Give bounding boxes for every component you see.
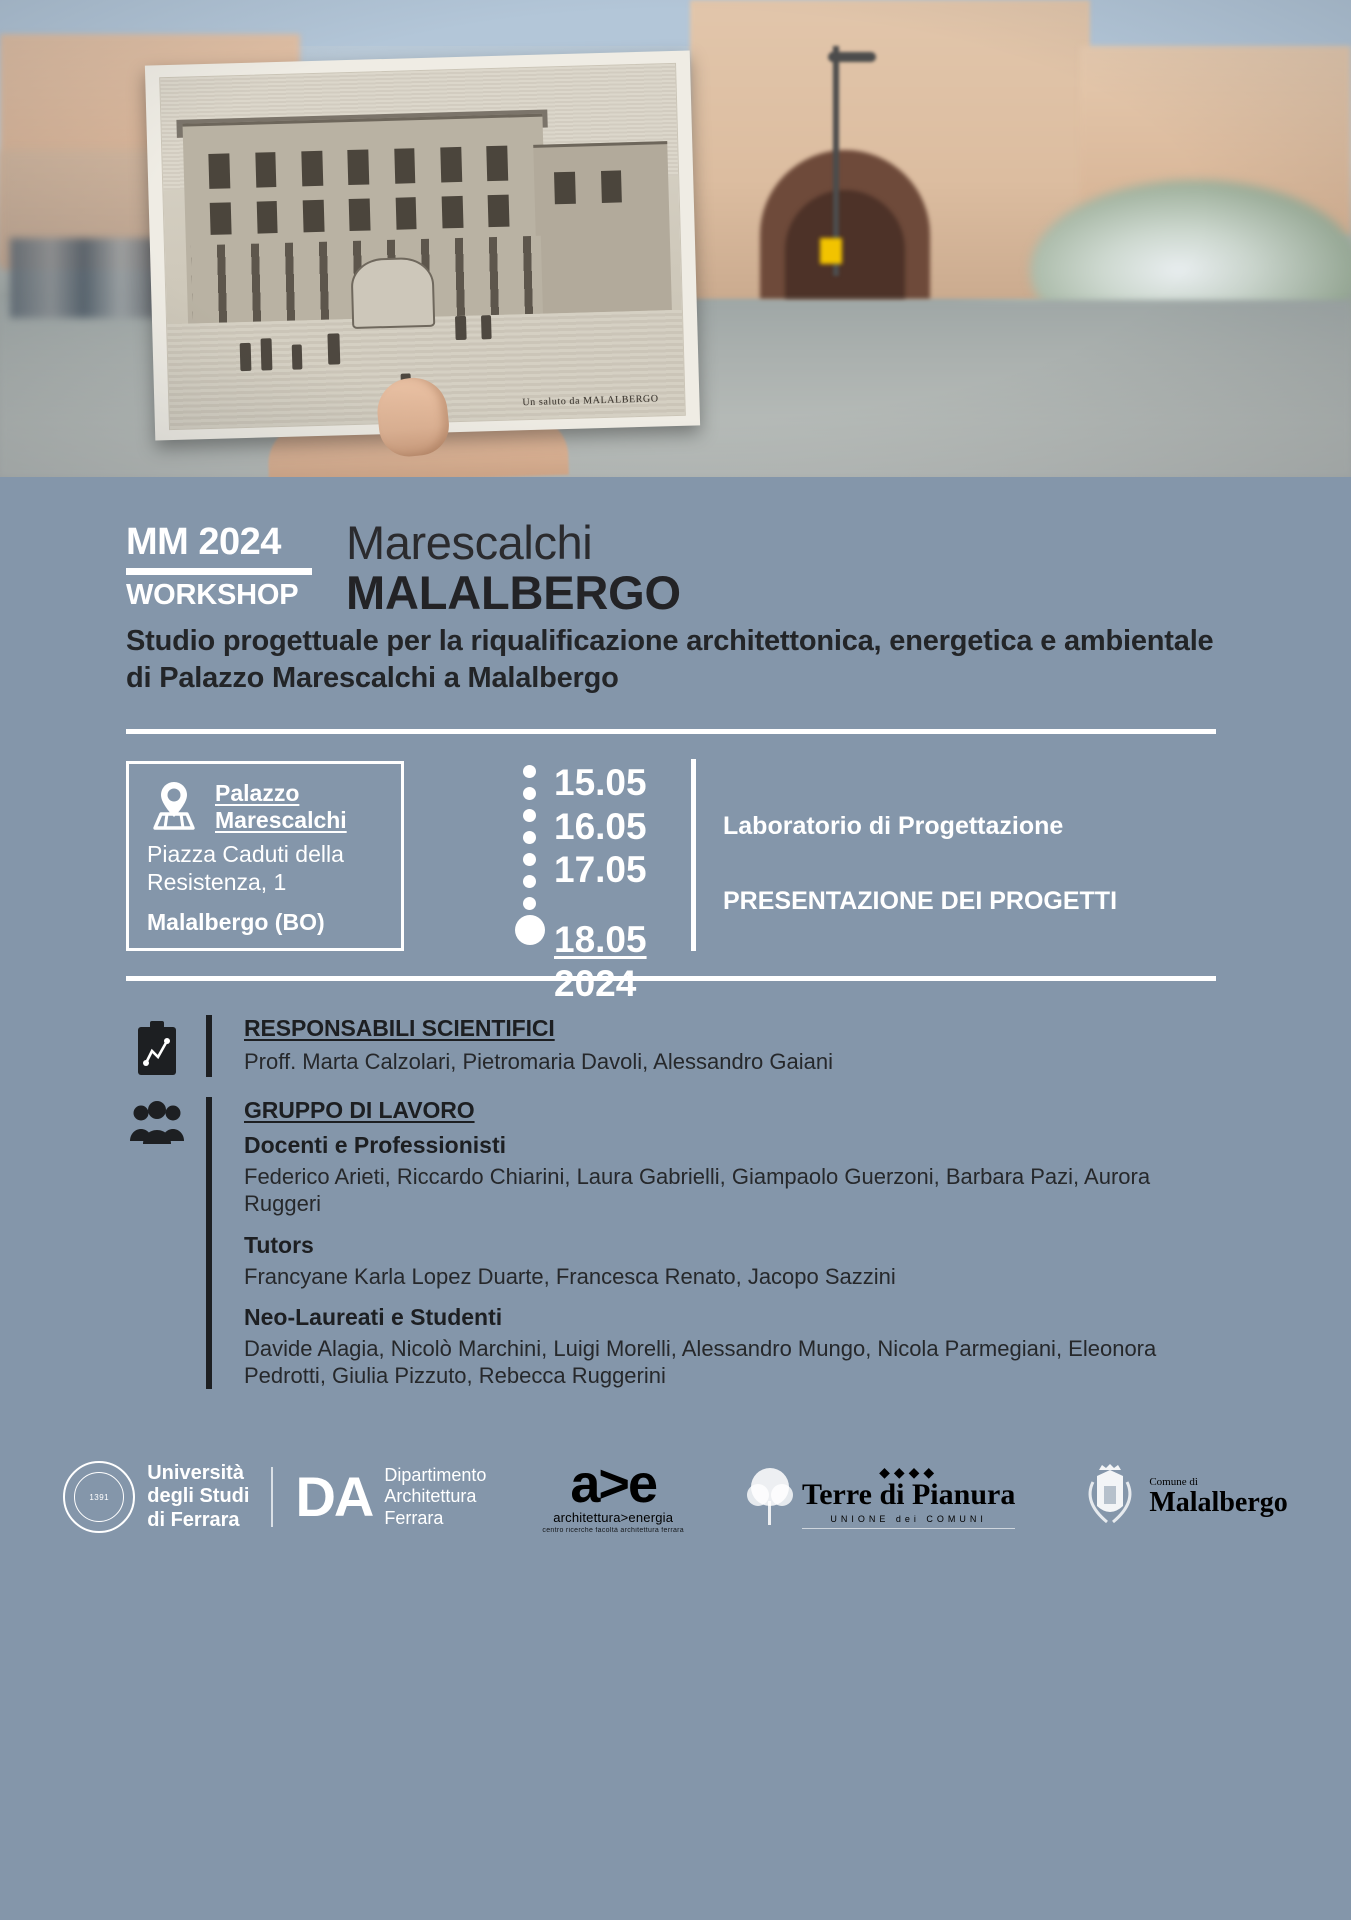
team-section: RESPONSABILI SCIENTIFICI Proff. Marta Ca… [126,1015,1226,1409]
responsabili-heading: RESPONSABILI SCIENTIFICI [244,1015,1226,1042]
gruppo-content: GRUPPO DI LAVORO Docenti e Professionist… [230,1097,1226,1389]
subsection-people-studenti: Davide Alagia, Nicolò Marchini, Luigi Mo… [244,1335,1226,1390]
comune-name: Malalbergo [1149,1488,1287,1517]
subsection-title-tutors: Tutors [244,1232,1226,1259]
timeline-dot [523,853,536,866]
schedule-label-presentation: PRESENTAZIONE DEI PROGETTI [723,886,1117,917]
divider-top [126,729,1216,734]
location-city: Malalbergo (BO) [147,909,385,937]
subsection-title-docenti: Docenti e Professionisti [244,1132,1226,1159]
timeline-dot [523,787,536,800]
logo-architettura-energia: a>e architettura>energia centro ricerche… [542,1460,684,1535]
responsabili-row: RESPONSABILI SCIENTIFICI Proff. Marta Ca… [126,1015,1226,1077]
page-subtitle: Studio progettuale per la riqualificazio… [126,623,1236,697]
date-item: 16.05 [554,805,664,849]
footer-logos: 1391 Università degli Studi di Ferrara D… [0,1437,1351,1557]
mm-divider [126,568,312,575]
subsection-title-studenti: Neo-Laureati e Studenti [244,1304,1226,1331]
da-line3: Ferrara [384,1508,486,1530]
location-address: Piazza Caduti della Resistenza, 1 [147,841,385,896]
unife-wordmark: Università degli Studi di Ferrara [147,1462,249,1533]
date-group-presentation: 18.05 2024 [554,918,664,1005]
logo-terre-di-pianura: ◆◆◆◆ Terre di Pianura UNIONE dei COMUNI [744,1465,1015,1529]
logo-unife: 1391 Università degli Studi di Ferrara [63,1461,249,1533]
schedule-labels: Laboratorio di Progettazione PRESENTAZIO… [723,761,1117,916]
ave-tagline: centro ricerche facoltà architettura fer… [542,1527,684,1534]
mm-workshop-badge: MM 2024 WORKSHOP [126,519,312,610]
info-vertical-divider [691,759,696,951]
gruppo-row: GRUPPO DI LAVORO Docenti e Professionist… [126,1097,1226,1389]
mm-year-label: MM 2024 [126,523,312,561]
unife-line2: degli Studi [147,1485,249,1509]
subsection-people-docenti: Federico Arieti, Riccardo Chiarini, Laur… [244,1163,1226,1218]
project-name-line2: MALALBERGO [346,567,681,619]
unife-seal-year: 1391 [65,1463,133,1531]
tree-icon [744,1465,796,1529]
ave-mark: a>e [542,1460,684,1509]
da-line1: Dipartimento [384,1465,486,1487]
location-heading: Palazzo Marescalchi [147,780,385,833]
date-column: 15.05 16.05 17.05 18.05 2024 [554,761,664,1005]
section-accent-bar [206,1097,212,1389]
poster-body: MM 2024 WORKSHOP Marescalchi MALALBERGO … [0,477,1351,1920]
ave-name: architettura>energia [542,1510,684,1525]
terre-dots-icon: ◆◆◆◆ [802,1465,1015,1479]
workshop-label: WORKSHOP [126,581,312,610]
timeline-dot [523,809,536,822]
comune-crest-icon [1079,1462,1141,1532]
timeline-dot [523,897,536,910]
divider-bottom [126,976,1216,981]
project-name-line1: Marescalchi [346,519,681,567]
da-mark: DA [295,1470,372,1523]
responsabili-people: Proff. Marta Calzolari, Pietromaria Davo… [244,1048,1226,1075]
logo-dipartimento: DA Dipartimento Architettura Ferrara [295,1465,486,1530]
schedule-label-lab: Laboratorio di Progettazione [723,811,1117,842]
da-line2: Architettura [384,1486,486,1508]
location-name: Palazzo Marescalchi [215,780,385,833]
logo-comune-malalbergo: Comune di Malalbergo [1079,1462,1287,1532]
subsection-people-tutors: Francyane Karla Lopez Duarte, Francesca … [244,1263,1226,1290]
date-item: 18.05 [554,918,664,962]
timeline-dot-large [515,915,545,945]
terre-wordmark: ◆◆◆◆ Terre di Pianura UNIONE dei COMUNI [802,1465,1015,1529]
unife-line3: di Ferrara [147,1509,249,1533]
unife-seal-icon: 1391 [63,1461,135,1533]
header-photo: Un saluto da MALALBERGO [0,0,1351,477]
date-item: 17.05 [554,848,664,892]
date-item: 15.05 [554,761,664,805]
timeline-dots [515,759,545,949]
responsabili-content: RESPONSABILI SCIENTIFICI Proff. Marta Ca… [230,1015,1226,1075]
clipboard-chart-icon [126,1015,188,1077]
gruppo-heading: GRUPPO DI LAVORO [244,1097,1226,1124]
poster: Un saluto da MALALBERGO MM 2024 WORKSHOP… [0,0,1351,1920]
timeline-dot [523,765,536,778]
logo-divider [271,1467,273,1527]
timeline-dot [523,831,536,844]
terre-rule [802,1528,1015,1529]
location-box: Palazzo Marescalchi Piazza Caduti della … [126,761,404,951]
date-year: 2024 [554,962,664,1006]
comune-wordmark: Comune di Malalbergo [1149,1477,1287,1517]
project-name-block: Marescalchi MALALBERGO [346,519,681,619]
da-wordmark: Dipartimento Architettura Ferrara [384,1465,486,1530]
section-accent-bar [206,1015,212,1077]
map-pin-icon [147,780,201,832]
info-row: Palazzo Marescalchi Piazza Caduti della … [126,761,1216,961]
title-block: MM 2024 WORKSHOP Marescalchi MALALBERGO [126,519,681,619]
terre-subtitle: UNIONE dei COMUNI [802,1514,1015,1524]
people-group-icon [126,1097,188,1145]
terre-name: Terre di Pianura [802,1479,1015,1511]
photo-vignette [0,0,1351,477]
timeline-dot [523,875,536,888]
unife-line1: Università [147,1462,249,1486]
